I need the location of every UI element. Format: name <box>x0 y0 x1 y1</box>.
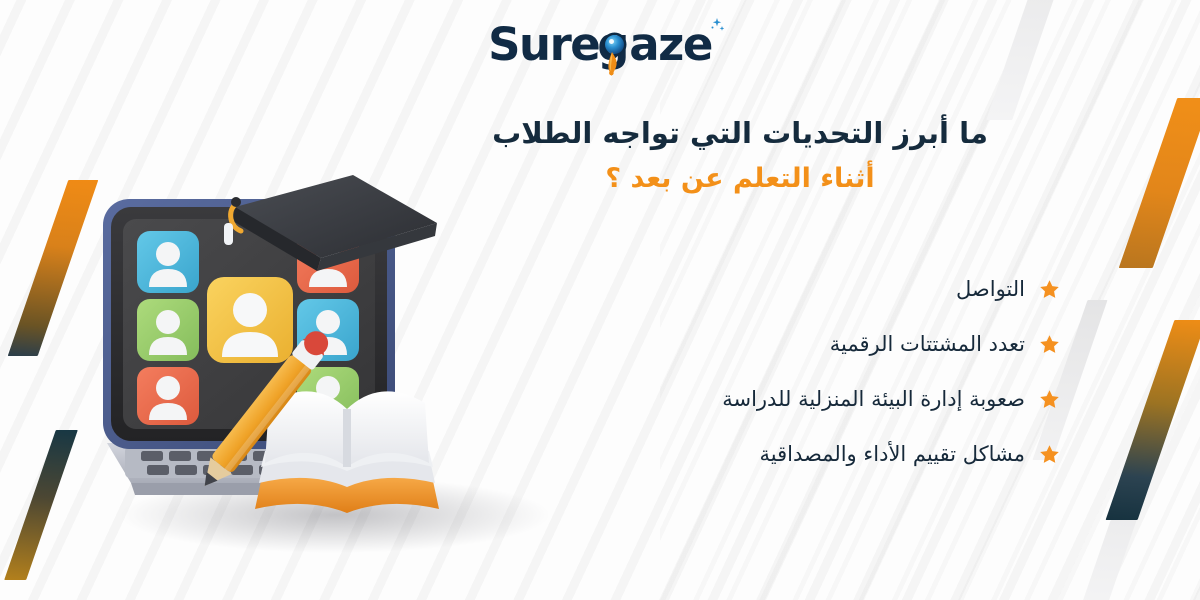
star-icon <box>1039 279 1060 300</box>
star-icon <box>1039 389 1060 410</box>
video-tile-left-top <box>137 231 199 293</box>
open-book <box>255 391 439 513</box>
brand-logo-text-sure: Sure <box>488 18 599 71</box>
brand-logo[interactable]: Sure g aze <box>0 22 1200 67</box>
accent-bar-grey-bottom <box>1069 520 1136 600</box>
sparkle-icon <box>698 18 724 42</box>
list-item[interactable]: التواصل <box>590 262 1060 317</box>
list-item[interactable]: صعوبة إدارة البيئة المنزلية للدراسة <box>590 372 1060 427</box>
brand-logo-eye-letter: g <box>599 22 629 67</box>
list-item-label: تعدد المشتتات الرقمية <box>830 331 1025 358</box>
feather-flame-icon <box>605 52 620 76</box>
star-icon <box>1039 334 1060 355</box>
list-item-label: مشاكل تقييم الأداء والمصداقية <box>759 441 1025 468</box>
accent-bar-gradient-right <box>1106 320 1200 520</box>
list-item[interactable]: تعدد المشتتات الرقمية <box>590 317 1060 372</box>
elearning-illustration <box>85 165 605 565</box>
video-tile-left-bottom <box>137 367 199 425</box>
illustration-svg <box>85 165 605 565</box>
star-icon <box>1039 444 1060 465</box>
list-item-label: التواصل <box>956 276 1025 303</box>
headline-primary: ما أبرز التحديات التي تواجه الطلاب <box>320 112 1160 156</box>
poster-canvas: Sure g aze ما أبرز التحديات التي تواجه ا… <box>0 0 1200 600</box>
accent-bar-navy-left <box>4 430 78 580</box>
list-item[interactable]: مشاكل تقييم الأداء والمصداقية <box>590 427 1060 482</box>
list-item-label: صعوبة إدارة البيئة المنزلية للدراسة <box>722 386 1025 413</box>
video-tile-center-large <box>207 277 293 363</box>
challenges-list: التواصل تعدد المشتتات الرقمية صعوبة إدار… <box>590 262 1060 482</box>
brand-logo-wordmark: Sure g aze <box>488 22 712 67</box>
video-tile-left-middle <box>137 299 199 361</box>
